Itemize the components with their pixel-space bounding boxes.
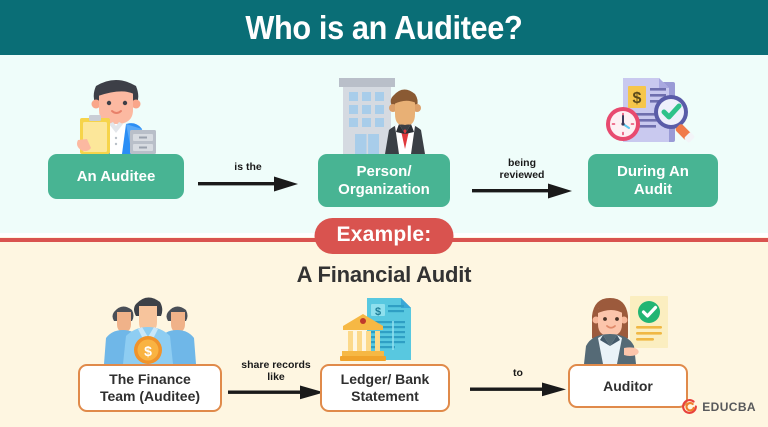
building-businessman-icon: [333, 72, 435, 154]
arrow-label-being-reviewed: being reviewed: [500, 158, 545, 181]
page-title: Who is an Auditee?: [246, 9, 523, 47]
audit-document-clock-magnifier-icon: $: [603, 72, 703, 154]
arrow-label-to: to: [513, 368, 523, 380]
finance-team-coin-icon: $: [98, 292, 202, 364]
section-divider: Example:: [0, 233, 768, 247]
example-subtitle: A Financial Audit: [0, 262, 768, 288]
arrow-right-icon: [472, 183, 572, 199]
node-label-an-auditee: An Auditee: [48, 154, 184, 199]
node-label-person-organization: Person/ Organization: [318, 154, 450, 207]
educba-e-logo-icon: [681, 398, 698, 415]
node-label-ledger-bank-statement: Ledger/ Bank Statement: [320, 364, 450, 412]
node-person-organization[interactable]: Person/ Organization: [318, 72, 450, 207]
example-badge: Example:: [315, 218, 454, 254]
node-finance-team[interactable]: $ The Finance Team (Auditee): [78, 292, 222, 412]
node-during-an-audit[interactable]: $: [588, 72, 718, 207]
node-ledger-bank-statement[interactable]: $ Ledger/ Bank Stat: [320, 292, 450, 412]
arrow-share-records-like: share records like: [222, 360, 330, 400]
svg-text:$: $: [633, 90, 642, 107]
arrow-is-the: is the: [192, 162, 304, 192]
arrow-right-icon: [228, 385, 324, 400]
arrow-right-icon: [198, 176, 298, 192]
node-label-during-an-audit: During An Audit: [588, 154, 718, 207]
auditor-woman-certificate-icon: [578, 292, 678, 364]
node-auditor[interactable]: Auditor: [568, 292, 688, 408]
auditee-person-clipboard-icon: [68, 72, 164, 154]
svg-text:$: $: [375, 306, 381, 318]
arrow-to: to: [466, 368, 570, 397]
node-label-auditor: Auditor: [568, 364, 688, 408]
node-label-finance-team: The Finance Team (Auditee): [78, 364, 222, 412]
arrow-right-icon: [470, 382, 566, 397]
bank-ledger-document-icon: $: [337, 292, 433, 364]
node-an-auditee[interactable]: An Auditee: [48, 72, 184, 199]
arrow-being-reviewed: being reviewed: [466, 158, 578, 199]
infographic-canvas: Who is an Auditee?: [0, 0, 768, 427]
arrow-label-share-records-like: share records like: [241, 360, 310, 383]
header-banner: Who is an Auditee?: [0, 0, 768, 55]
svg-text:$: $: [144, 343, 152, 359]
educba-branding[interactable]: EDUCBA: [681, 398, 756, 415]
arrow-label-is-the: is the: [234, 162, 261, 174]
educba-logo-text: EDUCBA: [702, 400, 756, 414]
